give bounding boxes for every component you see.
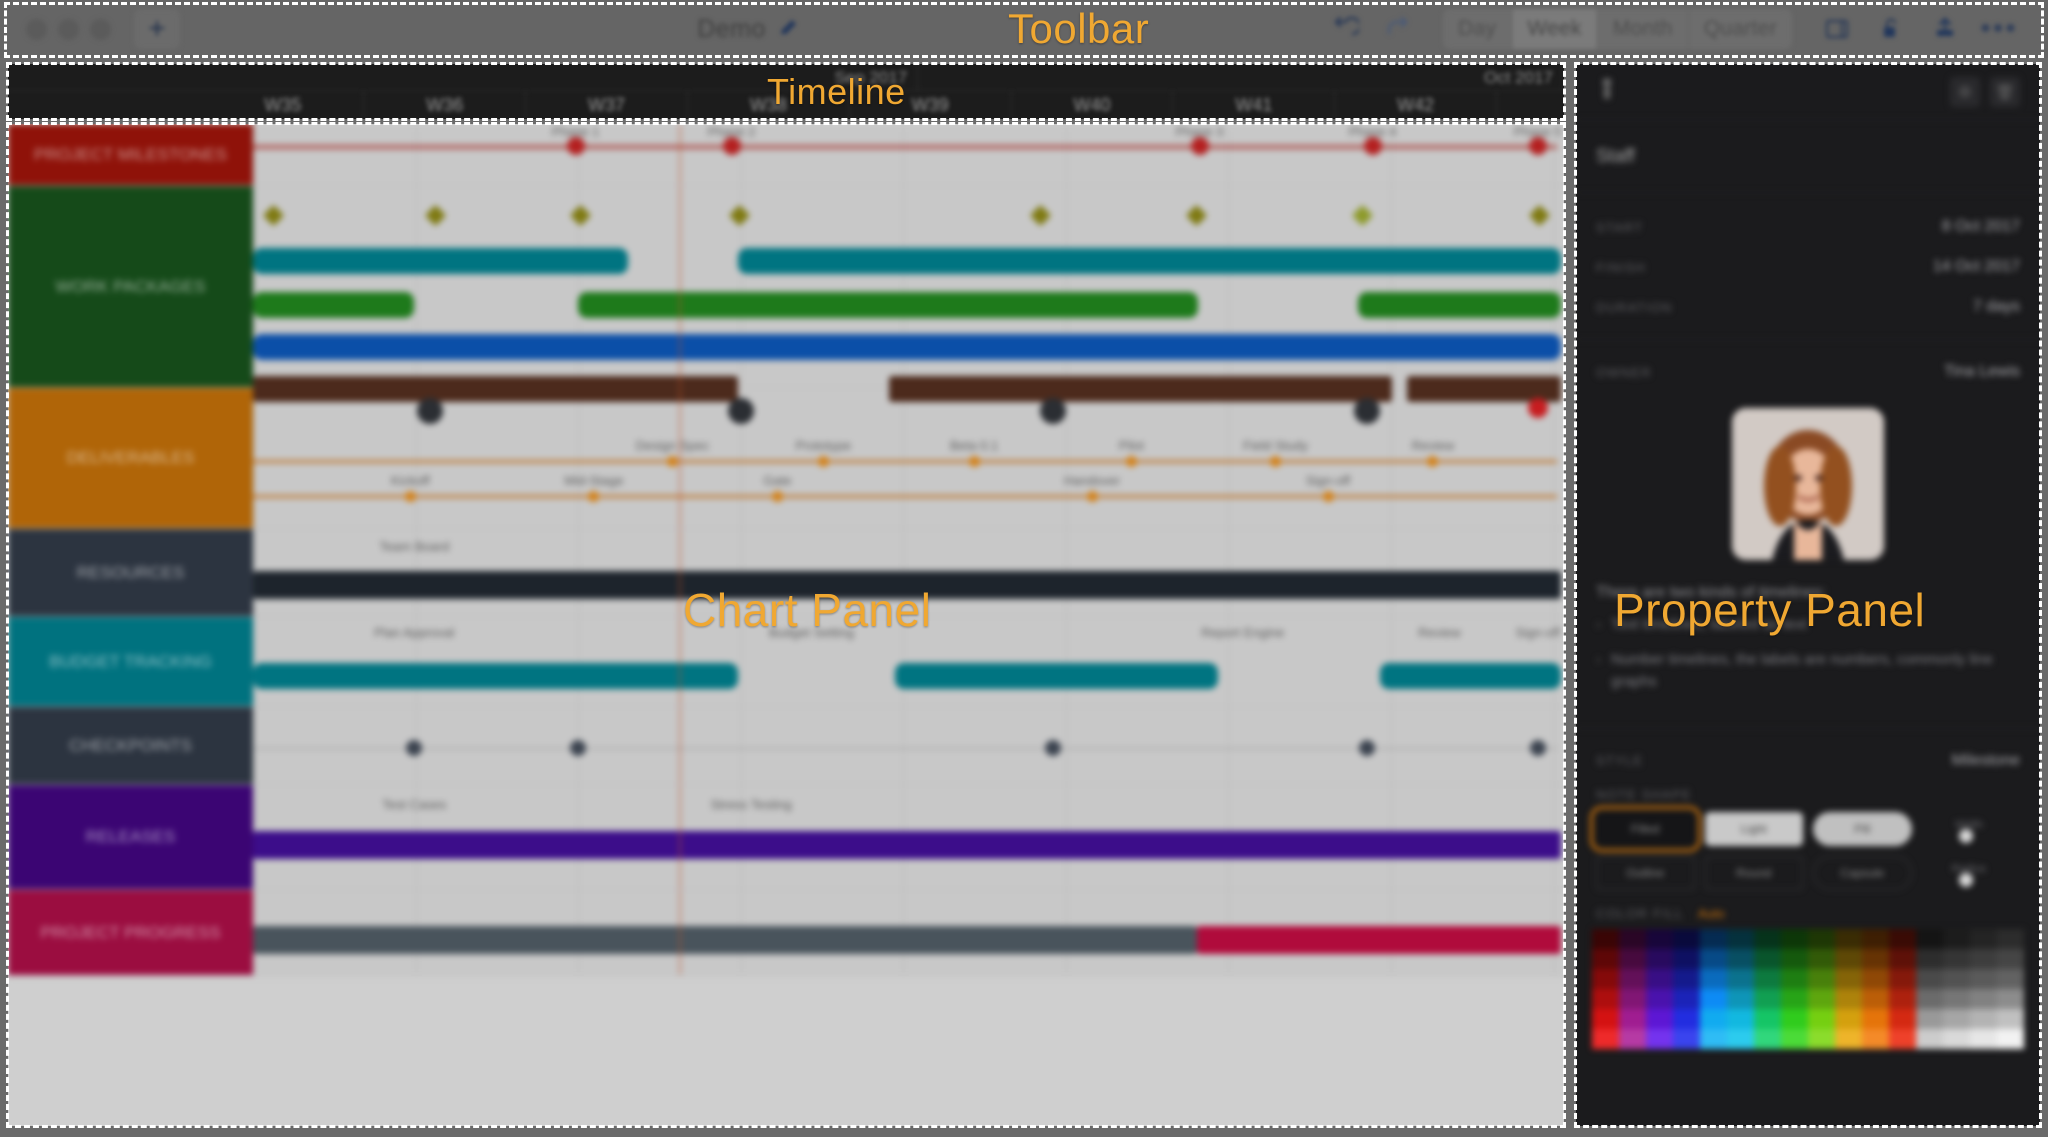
gantt-bar[interactable] <box>1380 663 1561 689</box>
avatar[interactable] <box>1732 408 1884 560</box>
divider <box>1576 728 2040 729</box>
color-swatch[interactable] <box>1835 1009 1862 1029</box>
field-finish: FINISH 14 Oct 2017 <box>1576 247 2040 287</box>
gantt-row[interactable]: PROJECT MILESTONESPhase 1Phase 2Phase 3P… <box>8 124 1564 186</box>
milestone-circle-marker[interactable] <box>1191 137 1209 155</box>
today-marker-line <box>679 529 681 616</box>
palette-value[interactable]: Auto <box>1698 906 1725 921</box>
row-header-7[interactable]: PROJECT PROGRESS <box>8 890 253 975</box>
color-swatch[interactable] <box>1646 929 1673 949</box>
shape-cell: Light <box>1705 812 1804 846</box>
color-swatch[interactable] <box>1727 989 1754 1009</box>
gantt-bar[interactable] <box>253 831 1561 859</box>
color-swatch[interactable] <box>1619 969 1646 989</box>
milestone-diamond-marker[interactable] <box>570 205 591 226</box>
grid-line <box>578 388 579 528</box>
track-label: Test Cases <box>382 797 446 812</box>
marker-label: Gate <box>763 473 791 488</box>
bullet-icon: › <box>1596 649 1601 694</box>
color-swatch[interactable] <box>1754 1029 1781 1049</box>
track-label: Review <box>1418 625 1461 640</box>
marker-label: Design Spec <box>636 438 710 453</box>
today-marker-line <box>679 617 681 706</box>
trash-icon[interactable]: 🗑 <box>1990 77 2020 107</box>
unlock-icon[interactable] <box>1864 7 1918 51</box>
color-swatch[interactable] <box>1646 1029 1673 1049</box>
milestone-circle-marker[interactable] <box>1427 456 1438 467</box>
gantt-bar[interactable] <box>253 926 1197 954</box>
marker-label: Mid-Stage <box>564 473 623 488</box>
milestone-diamond-marker[interactable] <box>729 205 750 226</box>
field-duration: DURATION 7 days <box>1576 287 2040 327</box>
property-item-name[interactable]: Staff <box>1576 120 2040 193</box>
marker-label: Handover <box>1064 473 1120 488</box>
gantt-bar[interactable] <box>253 663 738 689</box>
grid-line <box>903 124 904 185</box>
annotation-property-panel: Property Panel <box>1614 583 1925 637</box>
timeline-week-w37[interactable]: W37 <box>526 91 688 119</box>
grid-line <box>1554 388 1555 528</box>
color-swatch[interactable] <box>1727 929 1754 949</box>
share-export-icon[interactable] <box>1918 7 1972 51</box>
color-swatch[interactable] <box>1673 1029 1700 1049</box>
timeline-month-1: Oct 2017 <box>918 64 1564 91</box>
timescale-option-quarter[interactable]: Quarter <box>1689 9 1792 49</box>
panel-toggle-icon[interactable] <box>1810 7 1864 51</box>
gantt-bar[interactable] <box>738 248 1561 274</box>
grid-line <box>1228 707 1229 784</box>
milestone-circle-marker[interactable] <box>1040 398 1066 424</box>
color-swatch[interactable] <box>1862 969 1889 989</box>
color-swatch[interactable] <box>1700 969 1727 989</box>
milestone-circle-marker[interactable] <box>1528 398 1548 418</box>
slider-width[interactable]: Width <box>1922 812 2021 846</box>
field-start: START 8 Oct 2017 <box>1576 207 2040 247</box>
grid-line <box>1066 124 1067 185</box>
color-swatch[interactable] <box>1673 969 1700 989</box>
grid-line <box>253 388 254 528</box>
window-minimize-button[interactable] <box>58 19 79 40</box>
description-item: › Number timelines, the labels are numbe… <box>1596 649 2020 694</box>
today-marker-line <box>679 124 681 185</box>
grid-line <box>253 186 254 387</box>
color-swatch[interactable] <box>1619 1029 1646 1049</box>
field-owner: OWNER Tina Lewis <box>1576 352 2040 392</box>
shape-cell: Outline <box>1596 856 1695 890</box>
lane-baseline <box>253 495 1557 498</box>
gantt-row[interactable]: CHECKPOINTS <box>8 707 1564 785</box>
milestone-circle-marker[interactable] <box>723 137 741 155</box>
shape-cell: Pill <box>1813 812 1912 846</box>
color-swatch[interactable] <box>1727 1029 1754 1049</box>
row-header-3[interactable]: RESOURCES <box>8 529 253 616</box>
timeline-week-w41[interactable]: W41 <box>1173 91 1335 119</box>
grid-line <box>1391 388 1392 528</box>
today-marker-line <box>679 890 681 975</box>
row-track[interactable] <box>253 707 1564 784</box>
color-swatch[interactable] <box>1997 1029 2024 1049</box>
color-swatch[interactable] <box>1781 969 1808 989</box>
color-swatch[interactable] <box>1646 969 1673 989</box>
color-swatch[interactable] <box>1943 949 1970 969</box>
gantt-bar[interactable] <box>253 248 628 274</box>
property-fields: START 8 Oct 2017 FINISH 14 Oct 2017 DURA… <box>1576 193 2040 392</box>
color-swatch[interactable] <box>1916 989 1943 1009</box>
more-ellipsis-icon[interactable]: ••• <box>1972 7 2026 51</box>
color-swatch[interactable] <box>1916 1009 1943 1029</box>
milestone-circle-marker[interactable] <box>1045 740 1061 756</box>
color-swatch[interactable] <box>1970 929 1997 949</box>
field-start-value[interactable]: 8 Oct 2017 <box>1942 218 2020 236</box>
color-swatch[interactable] <box>1619 949 1646 969</box>
color-swatch[interactable] <box>1970 989 1997 1009</box>
row-header-6[interactable]: RELEASES <box>8 785 253 889</box>
slider-radius[interactable]: Radius <box>1922 856 2021 890</box>
color-swatch[interactable] <box>1592 929 1619 949</box>
grid-line <box>903 707 904 784</box>
marker-label: Field Study <box>1243 438 1308 453</box>
row-track[interactable] <box>253 186 1564 387</box>
color-swatch[interactable] <box>1673 929 1700 949</box>
grid-line <box>903 388 904 528</box>
color-swatch[interactable] <box>1970 969 1997 989</box>
slider-radius-knob[interactable] <box>1959 873 1973 887</box>
marker-label: Sign-off <box>1306 473 1351 488</box>
milestone-circle-marker[interactable] <box>818 456 829 467</box>
color-swatch[interactable] <box>1700 1009 1727 1029</box>
timeline-week-w42[interactable]: W42 <box>1335 91 1497 119</box>
color-swatch[interactable] <box>1754 969 1781 989</box>
color-swatch[interactable] <box>1835 969 1862 989</box>
color-swatch[interactable] <box>1673 1009 1700 1029</box>
milestone-diamond-marker[interactable] <box>263 205 284 226</box>
color-swatch[interactable] <box>1808 1009 1835 1029</box>
shape-cell: Capsule <box>1813 856 1912 890</box>
field-duration-value[interactable]: 7 days <box>1973 298 2020 316</box>
today-marker-line <box>679 707 681 784</box>
field-owner-value[interactable]: Tina Lewis <box>1944 363 2020 381</box>
redo-icon[interactable] <box>1371 7 1425 51</box>
gantt-bar[interactable] <box>253 334 1561 360</box>
color-swatch[interactable] <box>1646 989 1673 1009</box>
color-swatch[interactable] <box>1835 1029 1862 1049</box>
window-close-button[interactable] <box>26 19 47 40</box>
color-swatch[interactable] <box>1889 1009 1916 1029</box>
color-swatch[interactable] <box>1943 1029 1970 1049</box>
gantt-bar[interactable] <box>253 376 738 402</box>
track-label: Report Engine <box>1201 625 1284 640</box>
slider-radius-label: Radius <box>1952 863 1990 875</box>
field-style-value[interactable]: Milestone <box>1952 752 2020 770</box>
shape-filled-square-button[interactable]: Filled <box>1596 812 1695 846</box>
color-swatch[interactable] <box>1835 929 1862 949</box>
today-marker-line <box>679 186 681 387</box>
shape-outline-square-button[interactable]: Outline <box>1596 856 1695 890</box>
color-swatch[interactable] <box>1889 969 1916 989</box>
grid-line <box>741 707 742 784</box>
grid-line <box>253 617 254 706</box>
color-swatch[interactable] <box>1808 929 1835 949</box>
lane-baseline <box>253 460 1557 463</box>
milestone-circle-marker[interactable] <box>406 740 422 756</box>
gear-icon[interactable]: ⚙ <box>1950 77 1980 107</box>
row-header-5[interactable]: CHECKPOINTS <box>8 707 253 784</box>
color-swatch[interactable] <box>1943 1009 1970 1029</box>
grid-line <box>1066 707 1067 784</box>
add-button[interactable]: + <box>134 9 180 49</box>
color-swatch[interactable] <box>1970 1029 1997 1049</box>
color-swatch[interactable] <box>1835 949 1862 969</box>
timescale-option-week[interactable]: Week <box>1512 9 1598 49</box>
color-swatch[interactable] <box>1808 1029 1835 1049</box>
color-swatch[interactable] <box>1781 949 1808 969</box>
color-swatch[interactable] <box>1862 989 1889 1009</box>
color-swatch[interactable] <box>1619 1009 1646 1029</box>
row-track[interactable]: Design SpecPrototypeBeta 0.1PilotField S… <box>253 388 1564 528</box>
gantt-bar[interactable] <box>1197 926 1561 954</box>
color-swatch[interactable] <box>1889 949 1916 969</box>
milestone-circle-marker[interactable] <box>417 398 443 424</box>
track-label: Stress Testing <box>710 797 791 812</box>
palette-label: Color fill <box>1596 906 1684 921</box>
annotation-timeline: Timeline <box>767 71 906 113</box>
color-swatch[interactable] <box>1889 989 1916 1009</box>
palette-header: Color fill Auto <box>1576 890 2040 929</box>
milestone-circle-marker[interactable] <box>1529 137 1547 155</box>
undo-icon[interactable] <box>1317 7 1371 51</box>
property-panel-header: ⚙ 🗑 <box>1576 64 2040 120</box>
color-swatch[interactable] <box>1862 1029 1889 1049</box>
field-finish-value[interactable]: 14 Oct 2017 <box>1933 258 2020 276</box>
milestone-circle-marker[interactable] <box>728 398 754 424</box>
shape-light-pill-button[interactable]: Pill <box>1813 812 1912 846</box>
shape-grid: Filled Light Pill Width Outline <box>1576 812 2040 890</box>
gantt-row[interactable]: DELIVERABLESDesign SpecPrototypeBeta 0.1… <box>8 388 1564 529</box>
color-swatch[interactable] <box>1970 949 1997 969</box>
toolbar-left-group: + <box>0 9 180 49</box>
grid-line <box>253 124 254 185</box>
marker-label: Beta 0.1 <box>950 438 998 453</box>
milestone-circle-marker[interactable] <box>567 137 585 155</box>
milestone-diamond-marker[interactable] <box>1186 205 1207 226</box>
milestone-circle-marker[interactable] <box>969 456 980 467</box>
grid-line <box>1391 617 1392 706</box>
milestone-circle-marker[interactable] <box>667 456 678 467</box>
milestone-circle-marker[interactable] <box>1270 456 1281 467</box>
shape-cell: Round <box>1705 856 1804 890</box>
document-title[interactable]: Demo <box>697 15 766 44</box>
color-swatch[interactable] <box>1997 949 2024 969</box>
slider-width-knob[interactable] <box>1959 829 1973 843</box>
row-header-4[interactable]: BUDGET TRACKING <box>8 617 253 706</box>
color-swatch[interactable] <box>1727 969 1754 989</box>
milestone-circle-marker[interactable] <box>1354 398 1380 424</box>
color-swatch[interactable] <box>1700 1029 1727 1049</box>
milestone-circle-marker[interactable] <box>1126 456 1137 467</box>
color-swatch[interactable] <box>1808 989 1835 1009</box>
color-swatch[interactable] <box>1862 929 1889 949</box>
grid-line <box>416 124 417 185</box>
color-swatch[interactable] <box>1646 1009 1673 1029</box>
color-swatch[interactable] <box>1862 1009 1889 1029</box>
description-item-text: Number timelines, the labels are numbers… <box>1611 649 2020 694</box>
color-swatch[interactable] <box>1700 989 1727 1009</box>
grid-line <box>253 707 254 784</box>
grid-line <box>1066 617 1067 706</box>
marker-label: Review <box>1412 438 1455 453</box>
milestone-diamond-marker[interactable] <box>1528 205 1549 226</box>
shape-outline-rounded-button[interactable]: Round <box>1705 856 1804 890</box>
info-icon <box>1596 75 1618 108</box>
color-swatch[interactable] <box>1916 929 1943 949</box>
toolbar-right-group: Day Week Month Quarter <box>1317 7 2048 51</box>
today-marker-line <box>679 785 681 889</box>
grid-line <box>1554 707 1555 784</box>
color-swatch[interactable] <box>1673 989 1700 1009</box>
shape-light-rounded-button[interactable]: Light <box>1705 812 1804 846</box>
field-duration-label: DURATION <box>1596 300 1673 315</box>
track-label: Sign-off <box>1515 625 1560 640</box>
field-style: STYLE Milestone <box>1576 741 2040 781</box>
marker-label: Prototype <box>795 438 851 453</box>
pencil-icon[interactable] <box>778 16 800 43</box>
gantt-row[interactable]: WORK PACKAGES <box>8 186 1564 388</box>
color-swatch[interactable] <box>1619 989 1646 1009</box>
timeline-week-w36[interactable]: W36 <box>364 91 526 119</box>
app-window: + Demo Day Week Month Q <box>0 0 2048 1137</box>
milestone-circle-marker[interactable] <box>588 491 599 502</box>
annotation-chart-panel: Chart Panel <box>683 583 931 637</box>
milestone-circle-marker[interactable] <box>1359 740 1375 756</box>
color-swatch[interactable] <box>1997 1009 2024 1029</box>
color-swatch[interactable] <box>1673 949 1700 969</box>
milestone-circle-marker[interactable] <box>1364 137 1382 155</box>
grid-line <box>1391 707 1392 784</box>
color-swatch[interactable] <box>1700 929 1727 949</box>
color-swatch[interactable] <box>1700 949 1727 969</box>
milestone-diamond-marker[interactable] <box>425 205 446 226</box>
color-swatch[interactable] <box>1592 1009 1619 1029</box>
row-track[interactable] <box>253 890 1564 975</box>
field-owner-label: OWNER <box>1596 365 1652 380</box>
gantt-bar[interactable] <box>253 292 414 318</box>
color-swatch[interactable] <box>1781 1009 1808 1029</box>
avatar-wrapper <box>1576 392 2040 580</box>
color-swatch[interactable] <box>1754 1009 1781 1029</box>
field-style-label: STYLE <box>1596 753 1643 768</box>
grid-line <box>1066 388 1067 528</box>
color-swatch[interactable] <box>1889 929 1916 949</box>
row-header-0[interactable]: PROJECT MILESTONES <box>8 124 253 185</box>
divider <box>1576 339 2040 340</box>
annotation-toolbar: Toolbar <box>1008 5 1149 53</box>
milestone-circle-marker[interactable] <box>772 491 783 502</box>
color-swatch[interactable] <box>1592 969 1619 989</box>
slider-width-label: Width <box>1955 819 1987 831</box>
color-swatch[interactable] <box>1781 1029 1808 1049</box>
shape-outline-pill-button[interactable]: Capsule <box>1813 856 1912 890</box>
row-header-2[interactable]: DELIVERABLES <box>8 388 253 528</box>
color-swatch[interactable] <box>1835 989 1862 1009</box>
color-swatch[interactable] <box>1916 949 1943 969</box>
color-swatch[interactable] <box>1727 949 1754 969</box>
color-swatch[interactable] <box>1970 1009 1997 1029</box>
color-swatch[interactable] <box>1592 1029 1619 1049</box>
color-swatch[interactable] <box>1997 969 2024 989</box>
color-swatch[interactable] <box>1808 969 1835 989</box>
color-swatch[interactable] <box>1592 989 1619 1009</box>
color-swatch[interactable] <box>1646 949 1673 969</box>
shape-cell: Filled <box>1596 812 1695 846</box>
color-swatch[interactable] <box>1943 989 1970 1009</box>
milestone-circle-marker[interactable] <box>1530 740 1546 756</box>
gantt-bar[interactable] <box>895 663 1218 689</box>
bullet-icon: › <box>1596 614 1601 637</box>
color-swatch[interactable] <box>1997 989 2024 1009</box>
grid-line <box>578 617 579 706</box>
track-label: Team Board <box>379 539 449 554</box>
grid-line <box>1228 388 1229 528</box>
milestone-circle-marker[interactable] <box>1087 491 1098 502</box>
grid-line <box>1228 124 1229 185</box>
color-swatch[interactable] <box>1619 929 1646 949</box>
marker-label: Kickoff <box>391 473 430 488</box>
color-swatch[interactable] <box>1889 1029 1916 1049</box>
gantt-bar[interactable] <box>1358 292 1561 318</box>
color-swatch[interactable] <box>1754 929 1781 949</box>
row-track[interactable]: Phase 1Phase 2Phase 3Phase 4Phase 5 <box>253 124 1564 185</box>
color-palette[interactable] <box>1576 929 2040 1059</box>
timeline-week-w35[interactable]: W35 <box>203 91 365 119</box>
milestone-circle-marker[interactable] <box>405 491 416 502</box>
row-track[interactable]: Test CasesStress Testing <box>253 785 1564 889</box>
color-swatch[interactable] <box>1808 949 1835 969</box>
color-swatch[interactable] <box>1943 969 1970 989</box>
timeline-week-w40[interactable]: W40 <box>1012 91 1174 119</box>
marker-label: Pilot <box>1119 438 1144 453</box>
row-header-1[interactable]: WORK PACKAGES <box>8 186 253 387</box>
color-swatch[interactable] <box>1943 929 1970 949</box>
today-marker-line <box>679 388 681 528</box>
milestone-circle-marker[interactable] <box>570 740 586 756</box>
timescale-option-month[interactable]: Month <box>1598 9 1689 49</box>
color-swatch[interactable] <box>1592 949 1619 969</box>
color-swatch[interactable] <box>1862 949 1889 969</box>
window-zoom-button[interactable] <box>90 19 111 40</box>
gantt-row[interactable]: PROJECT PROGRESS <box>8 890 1564 976</box>
field-finish-label: FINISH <box>1596 260 1646 275</box>
track-label: Plan Approval <box>374 625 454 640</box>
color-swatch[interactable] <box>1781 989 1808 1009</box>
milestone-circle-marker[interactable] <box>1323 491 1334 502</box>
gantt-bar[interactable] <box>735 292 1198 318</box>
timescale-segmented-control[interactable]: Day Week Month Quarter <box>1443 9 1792 49</box>
color-swatch[interactable] <box>1727 1009 1754 1029</box>
color-swatch[interactable] <box>1916 969 1943 989</box>
color-swatch[interactable] <box>1754 949 1781 969</box>
field-start-label: START <box>1596 220 1643 235</box>
color-swatch[interactable] <box>1754 989 1781 1009</box>
milestone-diamond-marker[interactable] <box>1030 205 1051 226</box>
milestone-diamond-marker[interactable] <box>1351 205 1372 226</box>
property-panel-content: ⚙ 🗑 Staff START 8 Oct 2017 FINISH 14 Oct… <box>1576 64 2040 1059</box>
color-swatch[interactable] <box>1916 1029 1943 1049</box>
timescale-option-day[interactable]: Day <box>1443 9 1512 49</box>
color-swatch[interactable] <box>1997 929 2024 949</box>
gantt-row[interactable]: RELEASESTest CasesStress Testing <box>8 785 1564 890</box>
color-swatch[interactable] <box>1781 929 1808 949</box>
shape-section-title: Note shape <box>1576 781 2040 812</box>
